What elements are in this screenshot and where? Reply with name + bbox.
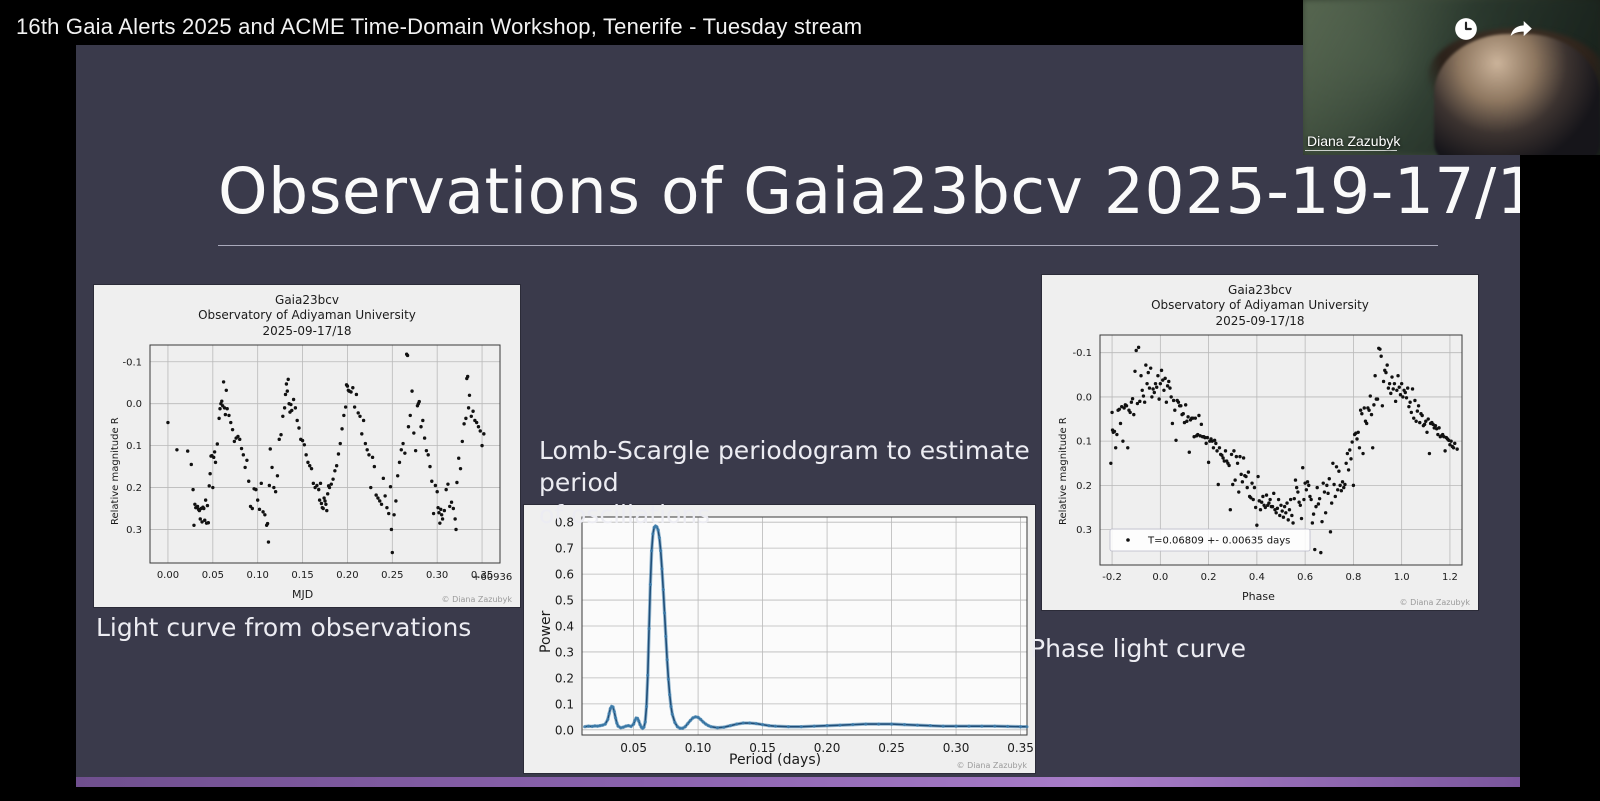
svg-text:0.2: 0.2: [1076, 481, 1092, 492]
light-curve-title: Gaia23bcv: [94, 293, 520, 308]
svg-text:0.0: 0.0: [555, 723, 574, 737]
svg-text:0.25: 0.25: [878, 741, 905, 755]
caption-periodogram-line1: Lomb-Scargle periodogram to estimate per…: [539, 435, 1049, 499]
svg-text:0.2: 0.2: [126, 483, 142, 494]
phase-curve-xlabel: Phase: [1242, 590, 1275, 603]
slide-title: Observations of Gaia23bcv 2025-19-17/18: [218, 155, 1428, 228]
phase-curve-title: Gaia23bcv: [1042, 283, 1478, 298]
svg-text:0.25: 0.25: [381, 570, 403, 581]
svg-text:0.35: 0.35: [1007, 741, 1034, 755]
svg-text:0.15: 0.15: [291, 570, 313, 581]
svg-text:0.3: 0.3: [1076, 525, 1092, 536]
svg-text:0.1: 0.1: [1076, 437, 1092, 448]
svg-text:T=0.06809 +- 0.00635 days: T=0.06809 +- 0.00635 days: [1147, 536, 1290, 547]
phase-curve-heading: Gaia23bcv Observatory of Adiyaman Univer…: [1042, 283, 1478, 329]
light-curve-heading: Gaia23bcv Observatory of Adiyaman Univer…: [94, 293, 520, 339]
share-icon[interactable]: [1508, 16, 1534, 42]
svg-text:0.4: 0.4: [555, 620, 574, 634]
svg-text:0.6: 0.6: [555, 568, 574, 582]
phase-curve-legend: T=0.06809 +- 0.00635 days: [1110, 529, 1310, 551]
presentation-slide: Observations of Gaia23bcv 2025-19-17/18 …: [76, 45, 1520, 787]
svg-text:0.7: 0.7: [555, 542, 574, 556]
periodogram-plot: 0.00.10.20.30.40.50.60.70.80.050.100.150…: [524, 505, 1035, 773]
phase-curve-ylabel: Relative magnitude R: [1058, 417, 1069, 525]
figure-light-curve: Gaia23bcv Observatory of Adiyaman Univer…: [94, 285, 520, 607]
webcam-overlay[interactable]: Diana Zazubyk: [1303, 0, 1600, 155]
slide-accent-bar: [76, 777, 1520, 787]
periodogram-watermark: © Diana Zazubyk: [957, 761, 1027, 770]
svg-text:0.4: 0.4: [1249, 572, 1265, 583]
svg-text:0.2: 0.2: [555, 671, 574, 685]
phase-curve-subtitle-2: 2025-09-17/18: [1042, 314, 1478, 329]
svg-text:0.00: 0.00: [157, 570, 179, 581]
svg-text:0.6: 0.6: [1297, 572, 1313, 583]
svg-text:0.1: 0.1: [555, 697, 574, 711]
svg-text:0.8: 0.8: [1345, 572, 1361, 583]
svg-text:0.30: 0.30: [943, 741, 970, 755]
svg-text:1.2: 1.2: [1442, 572, 1458, 583]
svg-text:0.3: 0.3: [555, 645, 574, 659]
svg-text:0.30: 0.30: [426, 570, 448, 581]
svg-text:0.10: 0.10: [247, 570, 269, 581]
periodogram-ylabel: Power: [538, 611, 554, 653]
light-curve-watermark: © Diana Zazubyk: [442, 595, 512, 604]
svg-text:0.20: 0.20: [336, 570, 358, 581]
caption-phase-light-curve: Phase light curve: [1030, 633, 1246, 665]
light-curve-xlabel: MJD: [292, 588, 313, 601]
svg-text:-0.1: -0.1: [122, 357, 142, 368]
svg-text:-0.2: -0.2: [1102, 572, 1122, 583]
caption-periodogram-line2: of oscillations: [539, 499, 1049, 531]
light-curve-subtitle-1: Observatory of Adiyaman University: [94, 308, 520, 323]
svg-text:0.05: 0.05: [620, 741, 647, 755]
phase-curve-subtitle-1: Observatory of Adiyaman University: [1042, 298, 1478, 313]
svg-text:0.0: 0.0: [126, 399, 142, 410]
webcam-speaker-figure: [1434, 34, 1600, 155]
webcam-speaker-name: Diana Zazubyk: [1307, 133, 1400, 149]
svg-text:0.5: 0.5: [555, 594, 574, 608]
svg-text:0.3: 0.3: [126, 525, 142, 536]
caption-light-curve: Light curve from observations: [96, 612, 471, 644]
svg-text:0.0: 0.0: [1076, 392, 1092, 403]
clock-icon[interactable]: [1453, 16, 1479, 42]
svg-text:0.2: 0.2: [1201, 572, 1217, 583]
periodogram-xlabel: Period (days): [729, 752, 821, 768]
svg-text:0.1: 0.1: [126, 441, 142, 452]
svg-text:0.10: 0.10: [685, 741, 712, 755]
stream-title: 16th Gaia Alerts 2025 and ACME Time-Doma…: [16, 14, 862, 40]
screen-root: 16th Gaia Alerts 2025 and ACME Time-Doma…: [0, 0, 1600, 801]
title-divider: [218, 245, 1438, 246]
phase-curve-watermark: © Diana Zazubyk: [1400, 598, 1470, 607]
light-curve-x-offset: +60936: [472, 572, 512, 583]
figure-phase-light-curve: Gaia23bcv Observatory of Adiyaman Univer…: [1042, 275, 1478, 610]
webcam-name-underline: [1305, 150, 1397, 151]
svg-text:0.05: 0.05: [202, 570, 224, 581]
svg-text:1.0: 1.0: [1394, 572, 1410, 583]
light-curve-ylabel: Relative magnitude R: [110, 417, 121, 525]
light-curve-subtitle-2: 2025-09-17/18: [94, 324, 520, 339]
caption-periodogram: Lomb-Scargle periodogram to estimate per…: [539, 435, 1049, 531]
figure-periodogram: 0.00.10.20.30.40.50.60.70.80.050.100.150…: [524, 505, 1035, 773]
svg-text:0.0: 0.0: [1152, 572, 1168, 583]
svg-text:-0.1: -0.1: [1072, 348, 1092, 359]
